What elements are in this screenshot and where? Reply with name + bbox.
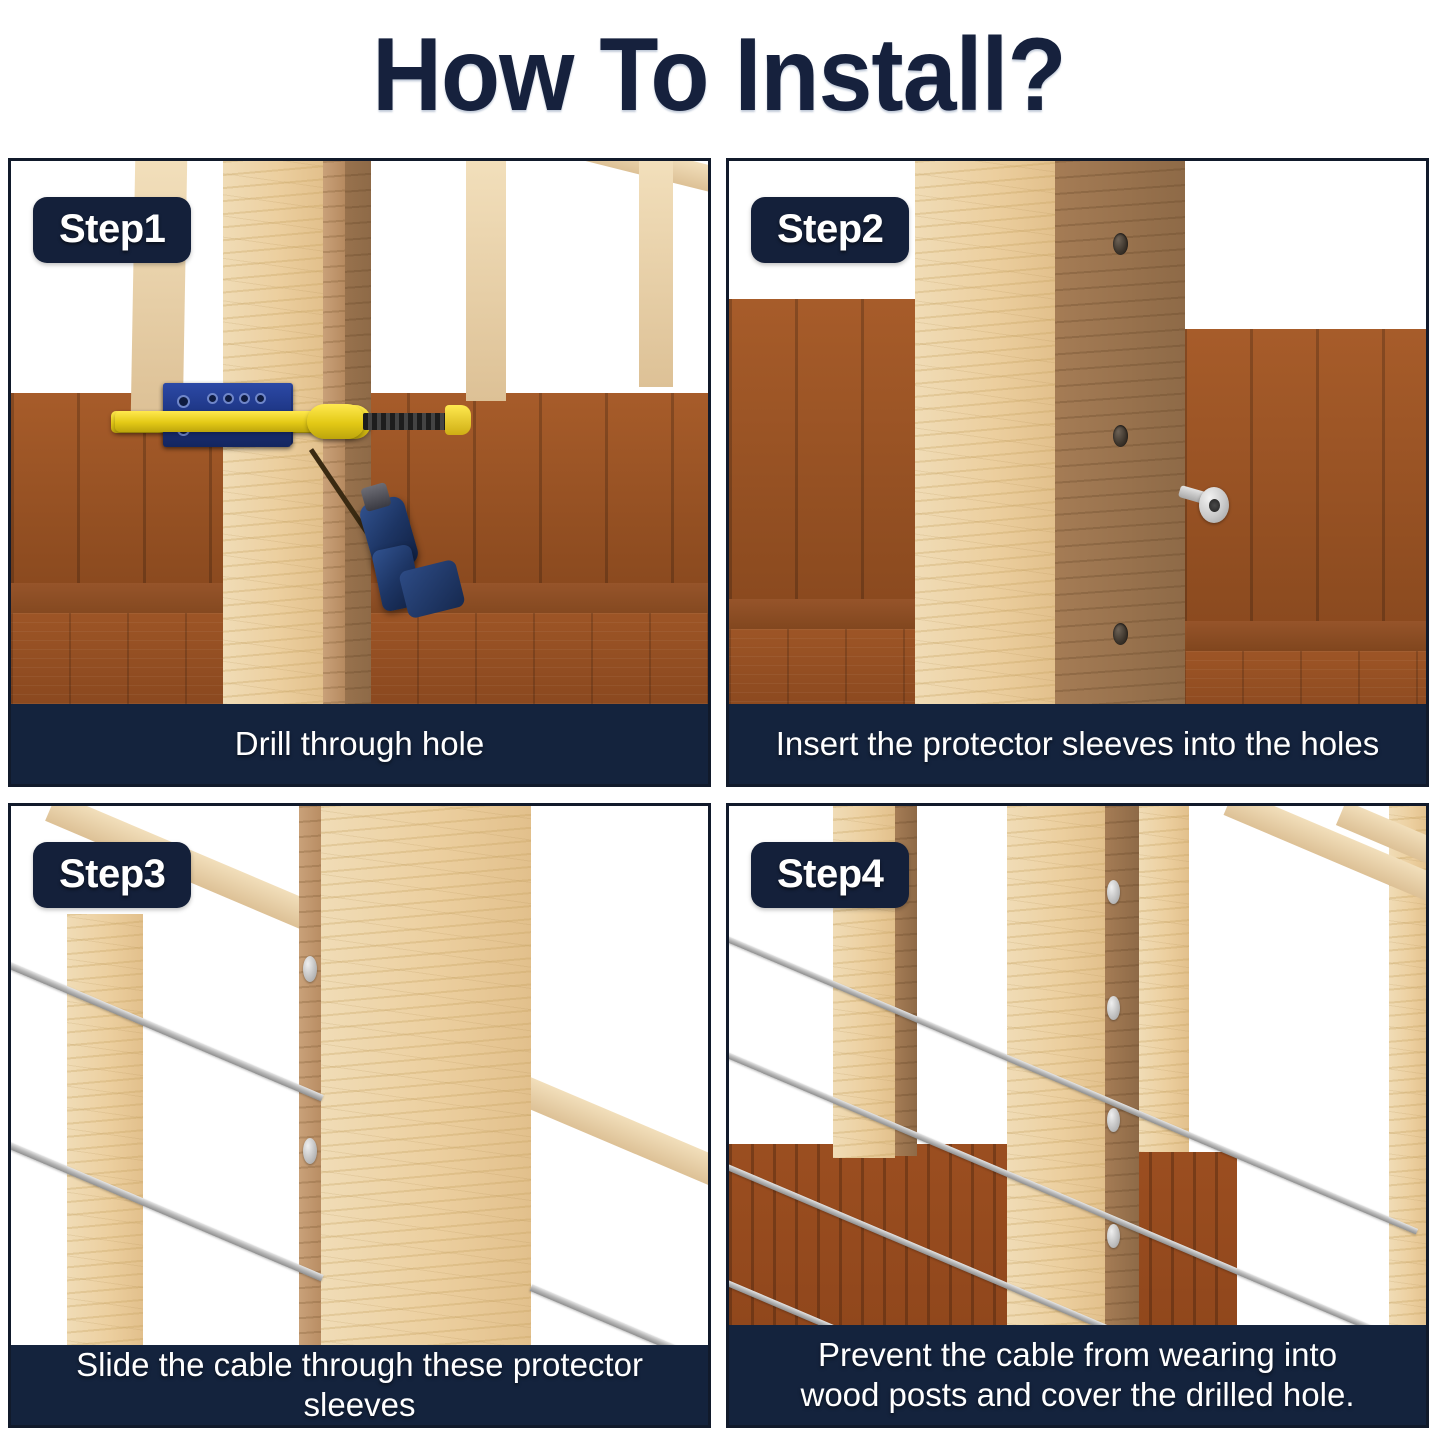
step-badge-3: Step3 xyxy=(33,842,191,908)
deck-left-ledge xyxy=(729,599,915,633)
step-badge-4: Step4 xyxy=(751,842,909,908)
drilled-hole-1 xyxy=(1113,233,1128,255)
drill-guide-arm-overlay xyxy=(115,411,333,432)
background-rail-far xyxy=(639,161,673,387)
deck-right-band xyxy=(1184,329,1426,625)
caption-line: Insert the protector sleeves into the ho… xyxy=(776,724,1380,764)
deck-right-ledge xyxy=(1184,621,1426,653)
steps-grid: Step1 Drill through hole xyxy=(8,158,1429,1430)
step-caption-3: Slide the cable through these protector … xyxy=(11,1345,708,1425)
protector-sleeve-bore xyxy=(1209,499,1220,512)
cable-flange-3 xyxy=(1107,1108,1120,1132)
drill-bit-tip xyxy=(445,405,471,435)
deck-left-band xyxy=(729,299,915,599)
step-panel-1: Step1 Drill through hole xyxy=(8,158,711,787)
jig-hole-5 xyxy=(239,393,250,404)
cable-flange-1 xyxy=(1107,880,1120,904)
jig-hole-3 xyxy=(207,393,218,404)
caption-line: wood posts and cover the drilled hole. xyxy=(800,1375,1354,1415)
cable-flange-2 xyxy=(1107,996,1120,1020)
step-caption-2: Insert the protector sleeves into the ho… xyxy=(729,704,1426,784)
wood-post-front xyxy=(223,161,323,784)
drill-guide-hub xyxy=(307,404,365,439)
caption-line: Slide the cable through these protector … xyxy=(21,1345,698,1425)
cable-upper-left xyxy=(11,954,324,1101)
step-badge-1: Step1 xyxy=(33,197,191,263)
step-panel-4: Step4 Prevent the cable from wearing int… xyxy=(726,803,1429,1428)
caption-line: Drill through hole xyxy=(235,724,484,764)
post-behind-right xyxy=(1139,806,1189,1152)
page-title-container: How To Install? xyxy=(0,0,1437,150)
infographic-page: How To Install? xyxy=(0,0,1437,1437)
sleeve-flange-mid xyxy=(303,1138,317,1164)
caption-line: Prevent the cable from wearing into xyxy=(818,1335,1337,1375)
step-caption-4: Prevent the cable from wearing into wood… xyxy=(729,1325,1426,1425)
step-panel-2: Step2 Insert the protector sleeves into … xyxy=(726,158,1429,787)
jig-hole-4 xyxy=(223,393,234,404)
wood-post-front xyxy=(915,161,1055,784)
jig-hole-1 xyxy=(177,395,190,408)
step-caption-1: Drill through hole xyxy=(11,704,708,784)
background-rail-right xyxy=(466,161,506,401)
cable-flange-4 xyxy=(1107,1224,1120,1248)
drilled-hole-2 xyxy=(1113,425,1128,447)
drilled-hole-3 xyxy=(1113,623,1128,645)
drill-bit xyxy=(363,413,449,430)
cable-mid-left xyxy=(11,1134,324,1281)
main-wood-post xyxy=(321,806,531,1425)
page-title: How To Install? xyxy=(372,23,1066,127)
sleeve-flange-upper xyxy=(303,956,317,982)
diagonal-rail-right xyxy=(505,1071,708,1228)
diagonal-rail xyxy=(528,161,708,202)
jig-hole-6 xyxy=(255,393,266,404)
step-panel-3: Step3 Slide the cable through these prot… xyxy=(8,803,711,1428)
step-badge-2: Step2 xyxy=(751,197,909,263)
